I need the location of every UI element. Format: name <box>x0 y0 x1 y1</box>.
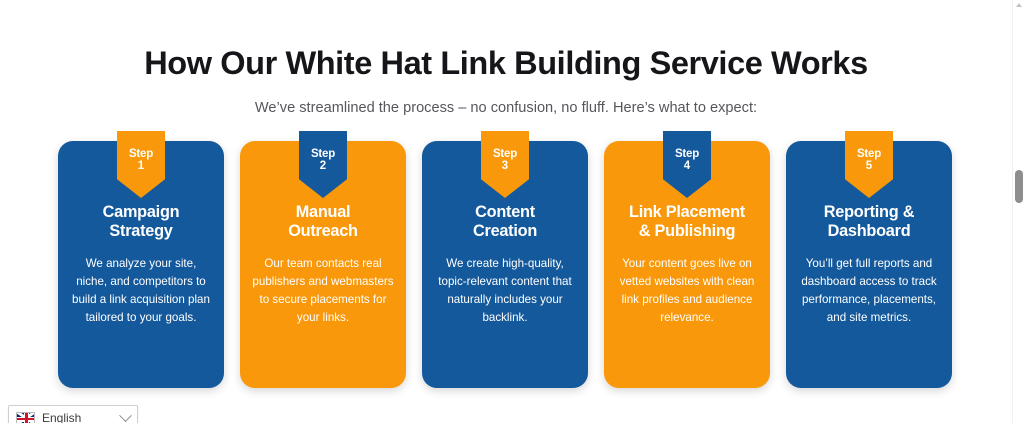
step-title-5: Reporting & Dashboard <box>797 203 941 241</box>
step-ribbon-number-2: 2 <box>320 160 326 173</box>
step-card-1[interactable]: Step 1 Campaign Strategy We analyze your… <box>58 141 224 388</box>
step-card-2[interactable]: Step 2 Manual Outreach Our team contacts… <box>240 141 406 388</box>
step-ribbon-label-5: Step <box>857 148 881 160</box>
steps-container: Step 1 Campaign Strategy We analyze your… <box>58 141 954 388</box>
page-title: How Our White Hat Link Building Service … <box>0 44 1012 84</box>
scrollbar-up-arrow-icon[interactable] <box>1016 3 1022 7</box>
section-header: How Our White Hat Link Building Service … <box>0 0 1012 118</box>
step-ribbon-label-3: Step <box>493 148 517 160</box>
language-selector[interactable]: English <box>8 405 138 423</box>
step-ribbon-label-1: Step <box>129 148 153 160</box>
step-ribbon-5: Step 5 <box>845 131 893 198</box>
step-card-5[interactable]: Step 5 Reporting & Dashboard You’ll get … <box>786 141 952 388</box>
step-ribbon-3: Step 3 <box>481 131 529 198</box>
step-title-4: Link Placement & Publishing <box>615 203 759 241</box>
step-ribbon-1: Step 1 <box>117 131 165 198</box>
step-title-3: Content Creation <box>433 203 577 241</box>
step-card-4[interactable]: Step 4 Link Placement & Publishing Your … <box>604 141 770 388</box>
vertical-scrollbar[interactable] <box>1012 0 1024 423</box>
step-ribbon-4: Step 4 <box>663 131 711 198</box>
page-content: How Our White Hat Link Building Service … <box>0 0 1012 423</box>
step-ribbon-number-5: 5 <box>866 160 872 173</box>
step-description-3: We create high-quality, topic-relevant c… <box>433 255 577 326</box>
step-title-2: Manual Outreach <box>251 203 395 241</box>
chevron-down-icon[interactable] <box>119 409 132 422</box>
step-ribbon-number-4: 4 <box>684 160 690 173</box>
step-description-5: You’ll get full reports and dashboard ac… <box>797 255 941 326</box>
step-ribbon-label-4: Step <box>675 148 699 160</box>
step-title-1: Campaign Strategy <box>69 203 213 241</box>
step-description-4: Your content goes live on vetted website… <box>615 255 759 326</box>
language-selector-label: English <box>42 411 121 423</box>
step-card-3[interactable]: Step 3 Content Creation We create high-q… <box>422 141 588 388</box>
step-ribbon-2: Step 2 <box>299 131 347 198</box>
scrollbar-thumb[interactable] <box>1015 170 1023 203</box>
step-ribbon-number-3: 3 <box>502 160 508 173</box>
page-subtitle: We’ve streamlined the process – no confu… <box>0 98 1012 118</box>
step-ribbon-number-1: 1 <box>138 160 144 173</box>
uk-flag-icon <box>16 412 35 423</box>
step-description-2: Our team contacts real publishers and we… <box>251 255 395 326</box>
step-ribbon-label-2: Step <box>311 148 335 160</box>
step-description-1: We analyze your site, niche, and competi… <box>69 255 213 326</box>
